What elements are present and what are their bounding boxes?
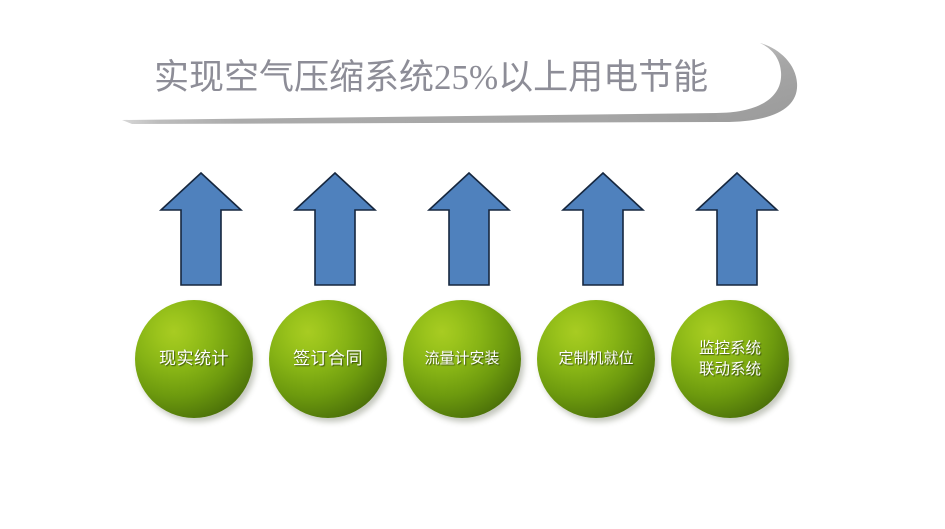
arrow-up-icon [426, 170, 512, 288]
node-label-line: 流量计安装 [424, 348, 499, 370]
arrow-up-icon [158, 170, 244, 288]
node-label-line: 现实统计 [159, 348, 229, 370]
node-label: 定制机就位 [537, 300, 655, 418]
node-label: 流量计安装 [403, 300, 521, 418]
slide-canvas: 实现空气压缩系统25%以上用电节能 现实统计 [0, 0, 945, 529]
node-label-line: 签订合同 [293, 348, 363, 370]
process-node-1[interactable]: 现实统计 [135, 300, 253, 418]
arrow-up-icon [560, 170, 646, 288]
node-label: 签订合同 [269, 300, 387, 418]
arrow-up-icon [694, 170, 780, 288]
process-node-4[interactable]: 定制机就位 [537, 300, 655, 418]
node-label-line: 联动系统 [699, 359, 761, 380]
node-label-line: 定制机就位 [558, 348, 633, 370]
process-node-5[interactable]: 监控系统 联动系统 [671, 300, 789, 418]
title-banner: 实现空气压缩系统25%以上用电节能 [118, 34, 818, 144]
node-label: 现实统计 [135, 300, 253, 418]
arrow-up-icon [292, 170, 378, 288]
process-node-2[interactable]: 签订合同 [269, 300, 387, 418]
node-label-line: 监控系统 [699, 338, 761, 359]
page-title: 实现空气压缩系统25%以上用电节能 [154, 51, 734, 105]
process-node-3[interactable]: 流量计安装 [403, 300, 521, 418]
node-label: 监控系统 联动系统 [671, 300, 789, 418]
